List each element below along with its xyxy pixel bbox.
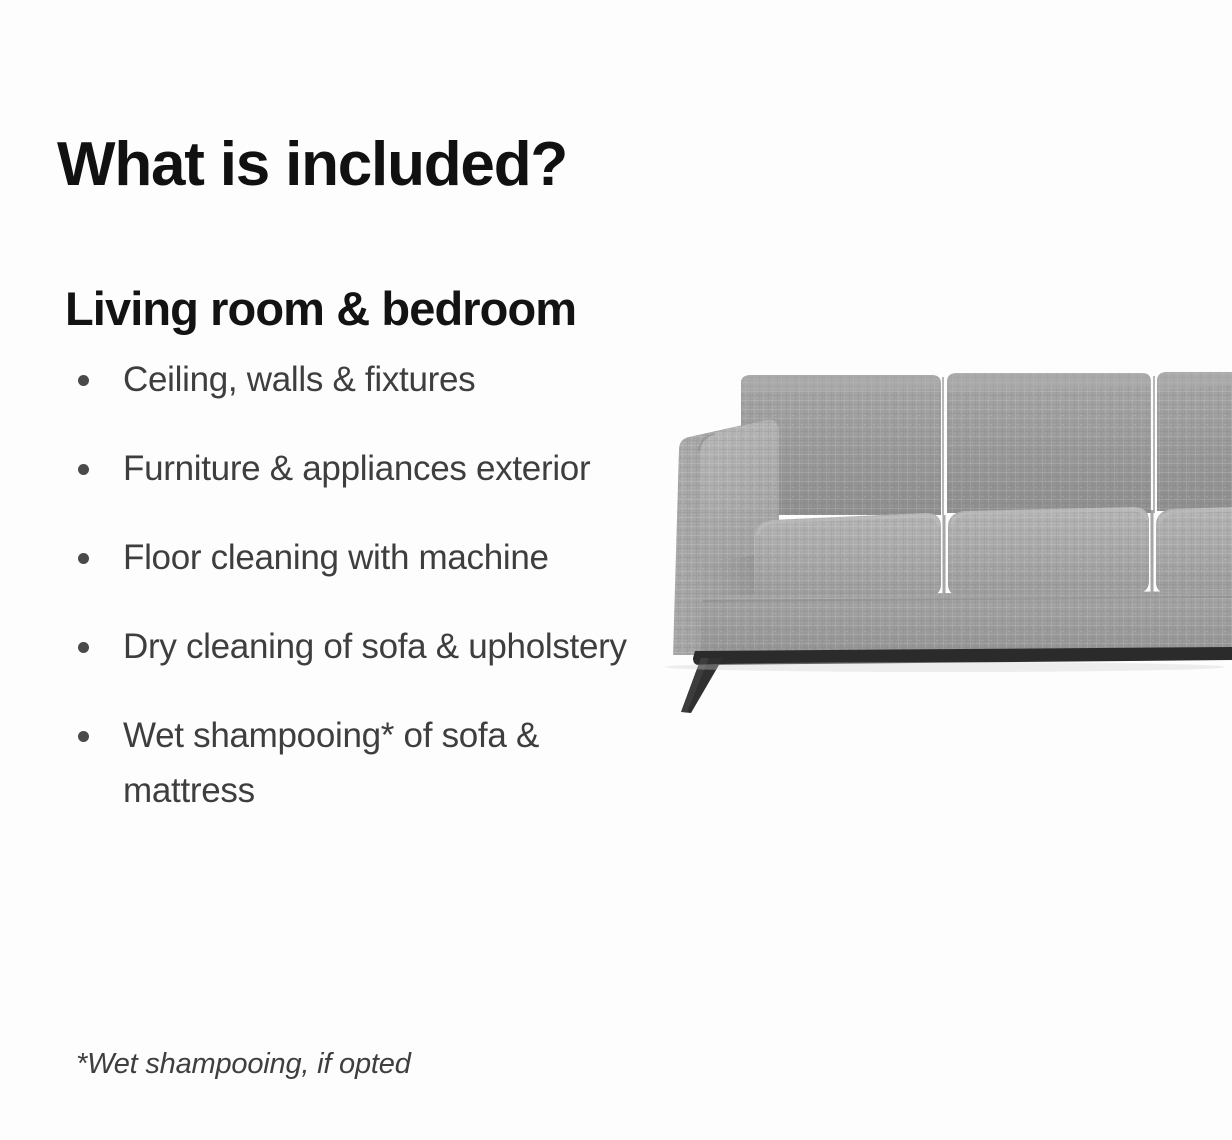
bullet-dot-icon	[78, 464, 89, 475]
list-item: Furniture & appliances exterior	[65, 441, 665, 496]
bullet-dot-icon	[78, 642, 89, 653]
list-item: Floor cleaning with machine	[65, 530, 665, 585]
list-item-label: Dry cleaning of sofa & upholstery	[123, 627, 627, 666]
list-item-label: Furniture & appliances exterior	[123, 449, 590, 488]
bullet-dot-icon	[78, 553, 89, 564]
text-column: What is included? Living room & bedroom …	[0, 0, 700, 1140]
list-item-label: Wet shampooing* of sofa & mattress	[123, 716, 539, 810]
list-item: Ceiling, walls & fixtures	[65, 352, 665, 407]
list-item: Dry cleaning of sofa & upholstery	[65, 619, 665, 674]
list-item-label: Ceiling, walls & fixtures	[123, 360, 475, 399]
sofa-illustration	[655, 355, 1232, 715]
bullet-dot-icon	[78, 731, 89, 742]
footnote-text: *Wet shampooing, if opted	[76, 1047, 411, 1082]
slide-canvas: What is included? Living room & bedroom …	[0, 0, 1232, 1140]
bullet-dot-icon	[78, 375, 89, 386]
included-items-list: Ceiling, walls & fixtures Furniture & ap…	[65, 352, 665, 852]
page-title: What is included?	[57, 132, 567, 197]
section-heading: Living room & bedroom	[65, 284, 576, 335]
list-item-label: Floor cleaning with machine	[123, 538, 549, 577]
list-item: Wet shampooing* of sofa & mattress	[65, 708, 665, 818]
